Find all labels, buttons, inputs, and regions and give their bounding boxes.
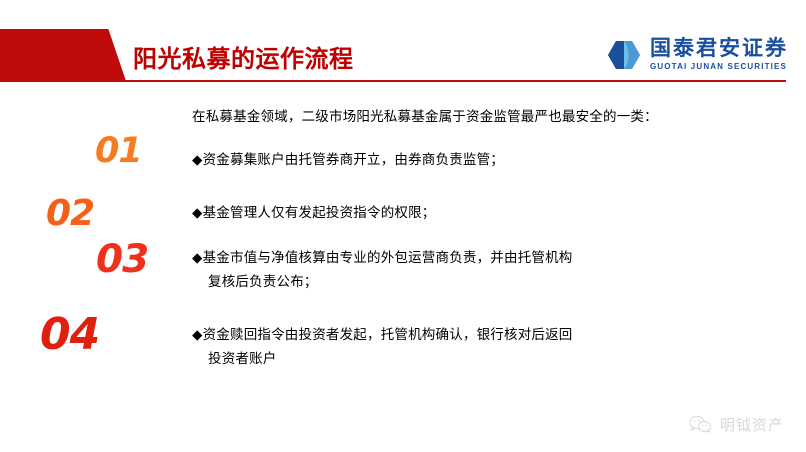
bullet-text: 基金管理人仅有发起投资指令的权限；: [203, 205, 436, 220]
brand-name-cn: 国泰君安证券: [650, 38, 788, 59]
bullet-item-2: ◆基金管理人仅有发起投资指令的权限；: [192, 201, 436, 225]
brand-text-block: 国泰君安证券 GUOTAI JUNAN SECURITIES: [650, 38, 788, 71]
guotai-junan-emblem-icon: [607, 40, 641, 70]
bullet-marker: ◆: [192, 250, 203, 265]
brand-name-en: GUOTAI JUNAN SECURITIES: [650, 63, 787, 71]
bullet-text: 资金赎回指令由投资者发起，托管机构确认，银行核对后返回: [203, 327, 573, 342]
bullet-item-3: ◆基金市值与净值核算由专业的外包运营商负责，并由托管机构 复核后负责公布；: [192, 246, 573, 293]
header-divider-line: [0, 80, 786, 82]
slide: 阳光私募的运作流程 国泰君安证券 GUOTAI JUNAN SECURITIES…: [0, 0, 806, 452]
bullet-text-continued: 投资者账户: [192, 347, 573, 371]
watermark-label: 明钺资产: [720, 414, 784, 435]
bullet-text: 基金市值与净值核算由专业的外包运营商负责，并由托管机构: [203, 250, 573, 265]
bullet-item-1: ◆资金募集账户由托管券商开立，由券商负责监管；: [192, 148, 504, 172]
step-number-01: 01: [95, 134, 142, 169]
bullet-marker: ◆: [192, 327, 203, 342]
slide-header: 阳光私募的运作流程 国泰君安证券 GUOTAI JUNAN SECURITIES: [0, 0, 806, 90]
step-number-03: 03: [96, 240, 148, 279]
bullet-item-4: ◆资金赎回指令由投资者发起，托管机构确认，银行核对后返回 投资者账户: [192, 323, 573, 370]
intro-text: 在私募基金领域，二级市场阳光私募基金属于资金监管最严也最安全的一类：: [192, 105, 658, 125]
bullet-text: 资金募集账户由托管券商开立，由券商负责监管；: [203, 152, 504, 167]
step-number-02: 02: [46, 196, 94, 232]
page-title: 阳光私募的运作流程: [133, 39, 354, 74]
header-red-banner: [0, 29, 126, 81]
bullet-marker: ◆: [192, 205, 203, 220]
wechat-icon: [689, 415, 712, 434]
bullet-text-continued: 复核后负责公布；: [192, 270, 573, 294]
step-number-04: 04: [40, 313, 99, 357]
bullet-marker: ◆: [192, 152, 203, 167]
brand-logo: 国泰君安证券 GUOTAI JUNAN SECURITIES: [607, 38, 788, 71]
watermark: 明钺资产: [689, 414, 784, 435]
